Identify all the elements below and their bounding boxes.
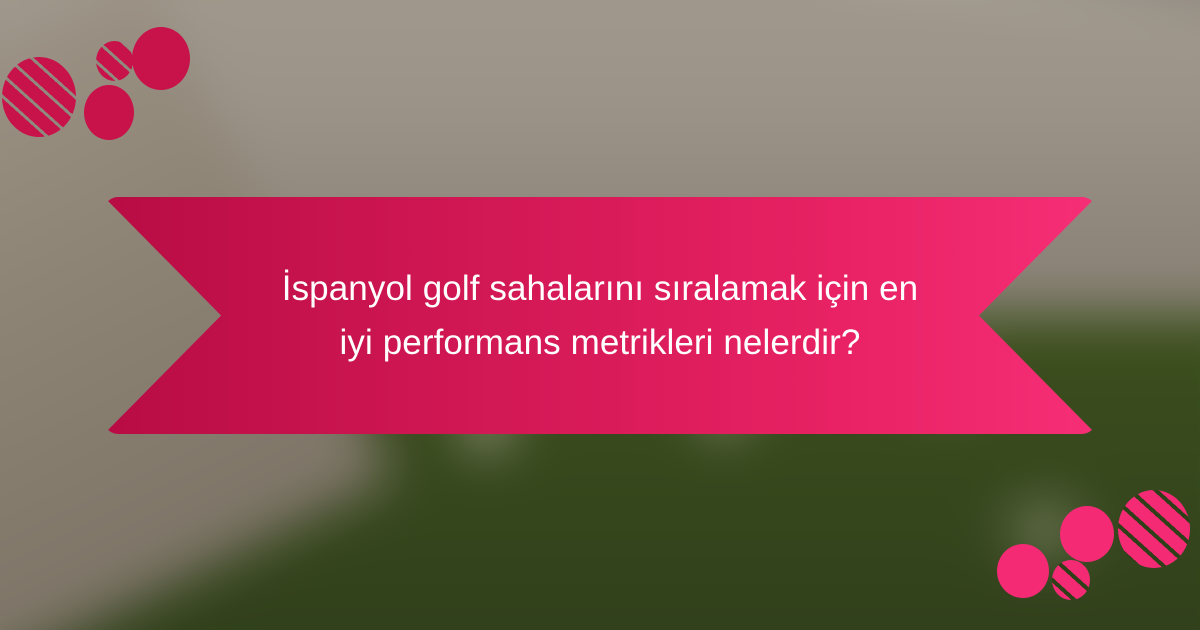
solid-disc-medium-icon bbox=[1060, 506, 1114, 562]
striped-disc-small-icon bbox=[1052, 560, 1090, 600]
page-title: İspanyol golf sahalarını sıralamak için … bbox=[274, 262, 926, 368]
striped-disc-large-icon bbox=[2, 57, 76, 137]
share-card: İspanyol golf sahalarını sıralamak için … bbox=[0, 0, 1200, 630]
headline-ribbon-inner: İspanyol golf sahalarını sıralamak için … bbox=[104, 197, 1096, 434]
striped-disc-large-icon bbox=[1118, 490, 1190, 568]
solid-disc-large-icon bbox=[132, 27, 190, 90]
decoration-cluster-top-left bbox=[0, 0, 220, 160]
solid-disc-medium-icon bbox=[84, 85, 134, 140]
headline-ribbon: İspanyol golf sahalarını sıralamak için … bbox=[104, 197, 1096, 434]
solid-disc-medium-2-icon bbox=[997, 544, 1049, 598]
decoration-cluster-bottom-right bbox=[980, 470, 1200, 630]
striped-disc-small-icon bbox=[96, 41, 133, 81]
